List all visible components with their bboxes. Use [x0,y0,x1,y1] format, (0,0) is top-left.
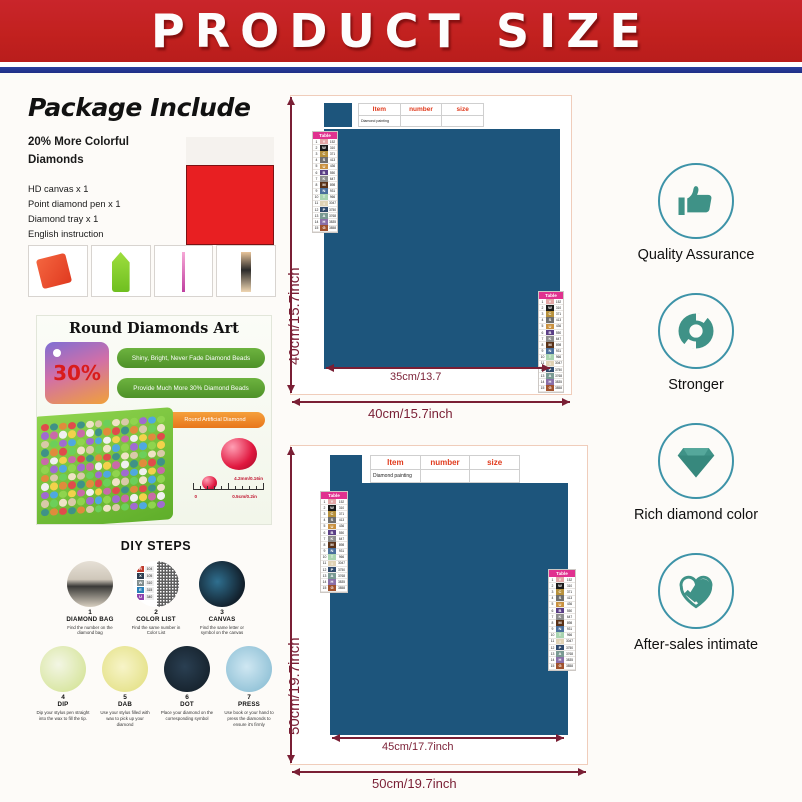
diy-step-name: CANVAS [195,616,249,623]
color-table-row: 15G3858 [321,586,347,592]
feature-quality-assurance: Quality Assurance [596,163,796,263]
canvas-preview [324,129,560,369]
feature-after-sales-intimate: After-sales intimate [596,553,796,653]
diagram2-height-label: 50cm/19.7inch [286,637,303,735]
thumb-diamond-tray [28,245,88,297]
color-list-icon: R104X105W310E315U340 [133,561,179,607]
canvas-swatch-photo [186,137,274,245]
dab-icon [102,646,148,692]
feature-label: After-sales intimate [596,637,796,653]
diy-step-desc: Use book or your hand to press the diamo… [222,710,276,728]
diy-step-desc: Find the same letter or symbol on the ca… [195,625,249,637]
color-table-right: Table 1Y1522W3103C3714S4135U4366B5507K64… [548,569,576,671]
discount-badge: 30% [45,342,109,404]
diy-step: 6 DOT Place your diamond on the correspo… [160,646,214,727]
color-table-body: 1Y1522W3103C3714S4135U4366B5507K6478M898… [313,139,337,232]
inner-width-label: 45cm/17.7inch [382,741,454,753]
diy-step-number: 2 [129,609,183,616]
diy-step-name: DIP [36,701,90,708]
package-subtitle-line2: Diamonds [28,152,148,170]
feature-rich-diamond-color: Rich diamond color [596,423,796,523]
diy-step-number: 1 [63,609,117,616]
diy-step: 4 DIP Dip your stylus pen straight into … [36,646,90,727]
diy-step-name: PRESS [222,701,276,708]
diy-step-name: DIAMOND BAG [63,616,117,623]
diy-steps-section: DIY STEPS 1 DIAMOND BAG Find the number … [36,539,276,728]
diagram-thumbnail-tile [324,103,352,127]
feature-pill-more-beads: Provide Much More 30% Diamond Beads [117,378,265,398]
tray-icon [36,253,72,289]
features-column: Quality Assurance Stronger Rich diam [596,163,796,677]
ruler-zero-label: 0 [194,494,197,499]
dip-icon [40,646,86,692]
badge-hole-icon [53,349,61,357]
size-diagram-40cm: Item number size Diamond painting Table … [290,95,572,395]
diagram1-outer-width-arrow [292,401,570,403]
dot-icon [164,646,210,692]
canvas-preview [330,483,568,735]
feature-stronger: Stronger [596,293,796,393]
diy-step-number: 7 [222,694,276,701]
feature-label: Stronger [596,377,796,393]
diy-step-desc: Find the number on the diamond bag [63,625,117,637]
diy-step: 5 DAB Use your stylus filled with wax to… [98,646,152,727]
diy-step: 7 PRESS Use book or your hand to press t… [222,646,276,727]
package-thumbnail-row [28,245,276,297]
press-icon [226,646,272,692]
banner-title: PRODUCT SIZE [151,4,651,58]
diy-step: R104X105W310E315U340 2 COLOR LIST Find t… [129,561,183,636]
color-table-right: Table 1Y1522W3103C3714S4135U4366B5507K64… [538,291,564,393]
item-header-item: Item [371,456,421,469]
inner-width-arrow [332,737,564,739]
diy-step-desc: Use your stylus filled with wax to pick … [98,710,152,728]
diagram-thumbnail-tile [330,455,362,483]
stick-icon [182,252,185,292]
bead-board-image [36,407,173,525]
package-subtitle: 20% More Colorful Diamonds [28,134,148,170]
feature-icon-circle [658,163,734,239]
item-header-number: number [421,456,471,469]
item-cell-name: Diamond painting [359,116,401,127]
diamond-size-bottom: 0.5cm/0.2in [232,494,257,499]
diy-steps-row-top: 1 DIAMOND BAG Find the number on the dia… [36,561,276,636]
red-canvas-swatch [186,165,274,245]
diy-step-number: 3 [195,609,249,616]
diy-step-number: 4 [36,694,90,701]
handshake-heart-icon [674,569,718,613]
item-cell-number [401,116,443,127]
color-table-body: 1Y1522W3103C3714S4135U4366B5507K6478M898… [321,499,347,592]
content-area: Package Include 20% More Colorful Diamon… [0,73,802,802]
package-include-title: Package Include [28,93,276,122]
item-cell-size [470,470,519,483]
diy-step-desc: Place your diamond on the corresponding … [160,710,214,722]
feature-label: Rich diamond color [596,507,796,523]
color-table-row: 15G3858 [549,664,575,670]
feature-pill-shiny: Shiny, Bright, Never Fade Diamond Beads [117,348,265,368]
feature-icon-circle [658,293,734,369]
diy-step-name: COLOR LIST [129,616,183,623]
color-table-left: Table 1Y1522W3103C3714S4135U4366B5507K64… [312,131,338,233]
item-table-row: Diamond painting [371,469,519,483]
diy-step-name: DAB [98,701,152,708]
item-table-header: Item number size [359,104,483,115]
feature-icon-circle [658,553,734,629]
diy-step: 1 DIAMOND BAG Find the number on the dia… [63,561,117,636]
diagram2-outer-width-arrow [292,771,586,773]
item-header-number: number [401,104,443,115]
item-table-row: Diamond painting [359,115,483,127]
thumb-glue-wax [216,245,276,297]
color-table-row: 15G3858 [539,386,563,392]
round-diamonds-art-panel: Round Diamonds Art 30% Shiny, Bright, Ne… [36,315,272,525]
diy-steps-title: DIY STEPS [36,539,276,553]
color-table-row: 15G3858 [313,226,337,232]
package-subtitle-line1: 20% More Colorful [28,134,148,152]
diagram1-height-label: 40cm/15.7inch [286,267,303,365]
diy-step-name: DOT [160,701,214,708]
feature-label: Quality Assurance [596,247,796,263]
canvas-icon [199,561,245,607]
color-table-body: 1Y1522W3103C3714S4135U4366B5507K6478M898… [549,577,575,670]
size-diagram-50cm: Item number size Diamond painting Table … [290,445,588,765]
thumb-diamond-pen [91,245,151,297]
diy-step-number: 5 [98,694,152,701]
product-size-banner: PRODUCT SIZE [0,0,802,62]
round-artificial-diamond-label: Round Artificial Diamond [165,412,265,428]
diy-step-desc: Dip your stylus pen straight into the wa… [36,710,90,722]
pen-icon [112,252,130,292]
thumbs-up-icon [675,180,717,222]
item-cell-number [421,470,471,483]
item-header-size: size [442,104,483,115]
round-diamonds-title: Round Diamonds Art [37,320,271,337]
item-number-size-table: Item number size Diamond painting [358,103,484,127]
item-cell-name: Diamond painting [371,470,421,483]
item-header-item: Item [359,104,401,115]
inner-width-label: 35cm/13.7 [390,371,441,383]
thumb-pen-stick [154,245,214,297]
diamond-icon [674,439,718,483]
diy-steps-row-bottom: 4 DIP Dip your stylus pen straight into … [36,646,276,727]
swirl-icon [675,310,717,352]
item-table-header: Item number size [371,456,519,469]
bead-grid [41,416,165,517]
diy-step-desc: Find the same number in Color List [129,625,183,637]
wax-icon [241,252,251,292]
inner-width-arrow [326,367,550,369]
item-cell-size [442,116,483,127]
diy-step: 3 CANVAS Find the same letter or symbol … [195,561,249,636]
diagram1-outer-width-label: 40cm/15.7inch [368,406,453,421]
diamond-bag-icon [67,561,113,607]
diy-step-number: 6 [160,694,214,701]
diamond-bead-large-icon [221,438,257,470]
item-header-size: size [470,456,519,469]
color-table-body: 1Y1522W3103C3714S4135U4366B5507K6478M898… [539,299,563,392]
package-include-section: Package Include 20% More Colorful Diamon… [28,93,276,242]
badge-value: 30% [53,361,101,385]
color-table-left: Table 1Y1522W3103C3714S4135U4366B5507K64… [320,491,348,593]
diagram2-outer-width-label: 50cm/19.7inch [372,776,457,791]
item-number-size-table: Item number size Diamond painting [370,455,520,483]
feature-icon-circle [658,423,734,499]
diamond-size-top: 4.2mm/0.16in [234,476,263,481]
